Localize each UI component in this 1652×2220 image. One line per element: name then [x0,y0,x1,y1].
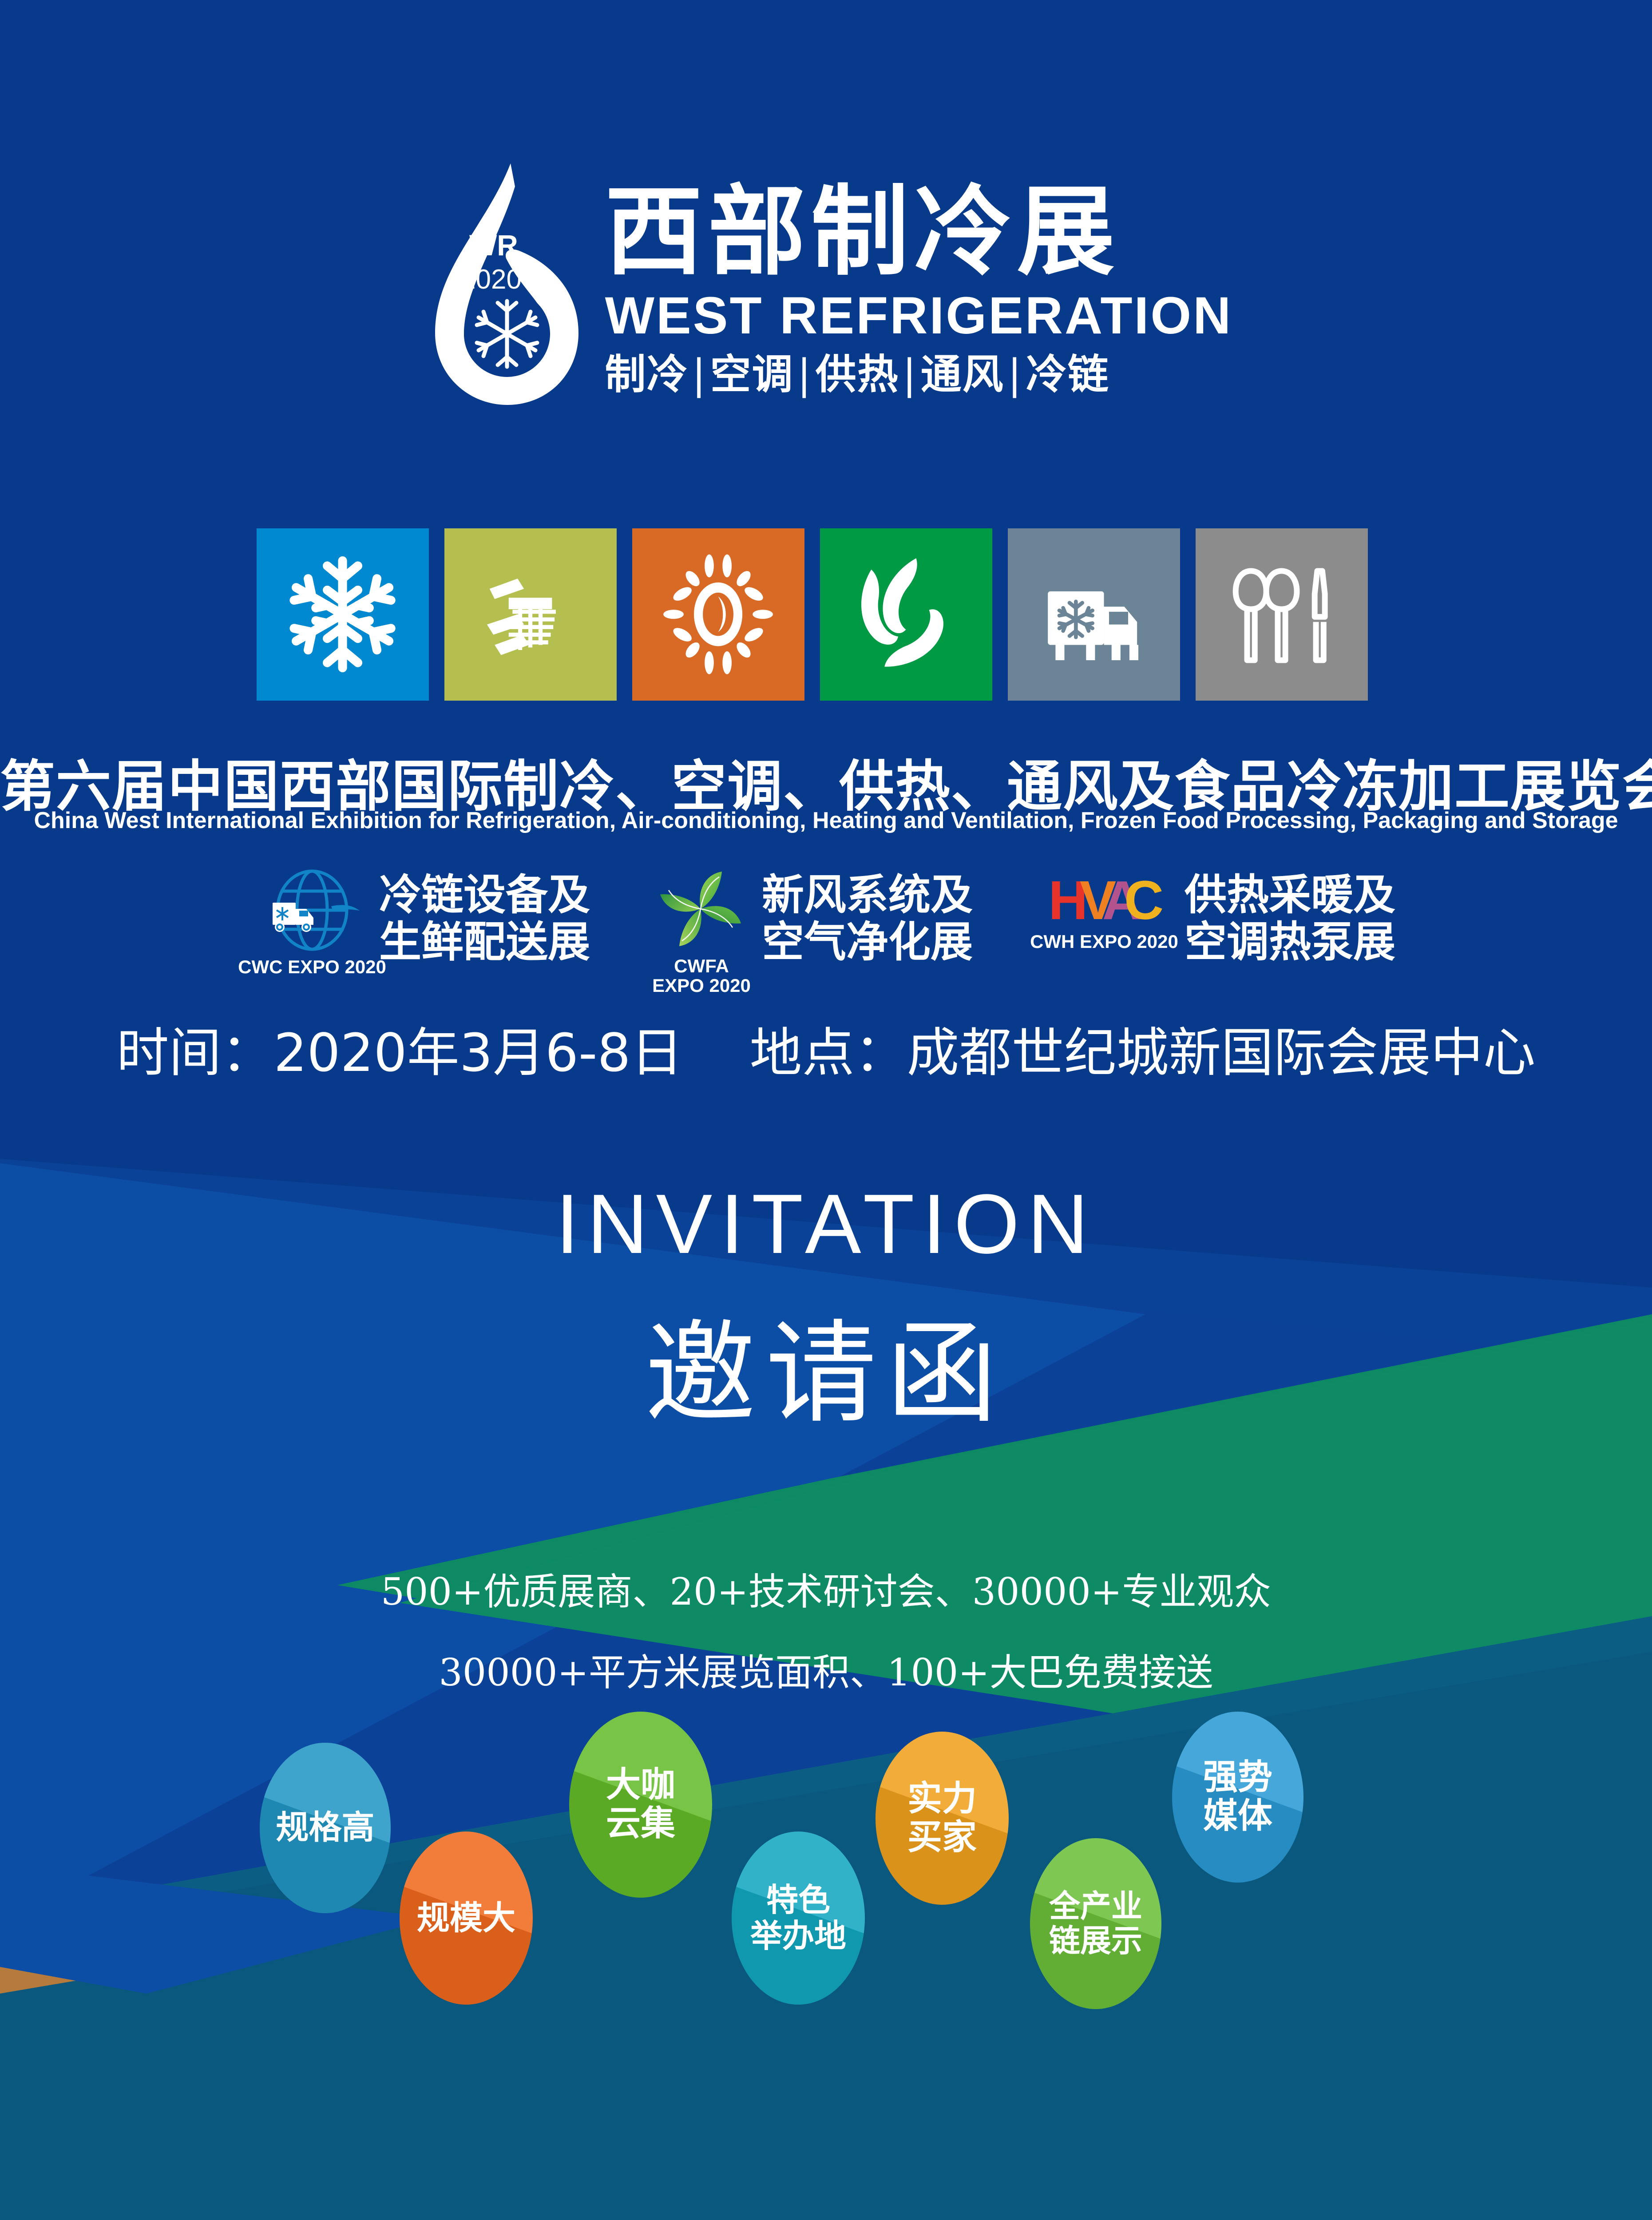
invitation-poster: WR 2020 西部制冷展 WEST REFRIGERATION 制冷|空调|供… [0,0,1652,2220]
feature-badge-6[interactable]: 强势媒体 [1172,1712,1303,1883]
tile-food-processing [1196,528,1368,701]
feature-badge-0[interactable]: 规格高 [260,1743,391,1913]
droplet-six-logo-mark: WR 2020 [420,160,593,408]
sector-1: 空调 [710,351,794,398]
sector-sep-0: | [689,351,710,398]
feature-badge-5[interactable]: 全产业链展示 [1030,1838,1161,2009]
badge-label: 实力买家 [907,1780,977,1857]
stats-line-2: 30000+平方米展览面积、100+大巴免费接送 [0,1643,1652,1697]
sub-expo-cwc-line2: 生鲜配送展 [379,919,590,966]
event-date-venue: 时间：2020年3月6-8日 地点：成都世纪城新国际会展中心 [0,1010,1652,1086]
sub-expo-hvac: H V A C CWH EXPO 2020 供热采暖及 空调热泵展 [1035,868,1395,966]
badge-label: 特色举办地 [750,1882,846,1954]
sub-expo-cwfa-line1: 新风系统及 [762,872,973,919]
svg-text:C: C [1124,870,1164,931]
tile-air-conditioning [444,528,617,701]
sub-expo-code-cwh: CWH EXPO 2020 [1030,931,1178,952]
logo-title-cn: 西部制冷展 [605,183,1233,281]
feature-badge-3[interactable]: 特色举办地 [732,1831,865,2005]
invitation-title-en: INVITATION [0,1176,1652,1273]
cold-truck-icon [1030,551,1157,678]
green-fan-icon [646,868,757,955]
sector-icon-tiles [257,528,1368,701]
sector-sep-2: | [899,351,921,398]
feature-badge-1[interactable]: 规模大 [400,1831,533,2005]
sub-expo-code-cwfa: CWFA EXPO 2020 [652,956,751,995]
event-date: 时间：2020年3月6-8日 [116,1010,683,1086]
cutlery-icon [1218,551,1345,678]
logo-mark-abbr: WR [469,229,518,262]
sub-expo-cold-chain: CWC EXPO 2020 冷链设备及 生鲜配送展 [257,868,590,978]
air-conditioner-icon [467,551,594,678]
feature-badge-2[interactable]: 大咖云集 [569,1712,712,1898]
badge-label: 规模大 [417,1900,515,1937]
badge-label: 全产业链展示 [1049,1889,1142,1958]
stats-line-1: 500+优质展商、20+技术研讨会、30000+专业观众 [0,1562,1652,1616]
sector-sep-3: | [1004,351,1026,398]
sector-4: 冷链 [1026,351,1109,398]
sun-heating-icon [654,551,782,678]
sector-3: 通风 [921,351,1004,398]
cwfa-code-line1: CWFA [652,956,751,976]
fan-ventilation-icon [842,551,970,678]
headline-english: China West International Exhibition for … [0,807,1652,834]
sub-expo-fresh-air: CWFA EXPO 2020 新风系统及 空气净化展 [653,868,973,995]
sector-0: 制冷 [605,351,689,398]
globe-truck-icon [257,868,368,955]
hvac-wordmark-icon: H V A C [1035,868,1173,939]
sector-2: 供热 [816,351,899,398]
logo-mark-year: 2020 [460,264,522,295]
cwfa-code-line2: EXPO 2020 [652,976,751,995]
sector-sep-1: | [794,351,816,398]
sub-expo-cwc-line1: 冷链设备及 [379,872,590,919]
sub-expo-cwfa-line2: 空气净化展 [762,919,973,966]
sub-exhibition-logos: CWC EXPO 2020 冷链设备及 生鲜配送展 [257,868,1395,995]
logo-sectors: 制冷|空调|供热|通风|冷链 [605,353,1233,396]
tile-refrigeration [257,528,429,701]
tile-ventilation [820,528,992,701]
badge-label: 强势媒体 [1203,1758,1272,1836]
tile-heating [632,528,804,701]
sub-expo-cwh-line1: 供热采暖及 [1185,872,1395,919]
event-venue: 地点：成都世纪城新国际会展中心 [750,1010,1536,1086]
feature-badge-4[interactable]: 实力买家 [876,1732,1009,1905]
sub-expo-cwh-line2: 空调热泵展 [1185,919,1395,966]
invitation-title-cn: 邀请函 [0,1283,1652,1444]
logo-title-en: WEST REFRIGERATION [605,289,1233,344]
snowflake-icon [279,551,406,678]
sub-expo-code-cwc: CWC EXPO 2020 [238,956,386,978]
badge-label: 规格高 [276,1809,375,1846]
event-logo: WR 2020 西部制冷展 WEST REFRIGERATION 制冷|空调|供… [0,160,1652,408]
tile-cold-chain [1008,528,1180,701]
badge-label: 大咖云集 [606,1766,675,1843]
